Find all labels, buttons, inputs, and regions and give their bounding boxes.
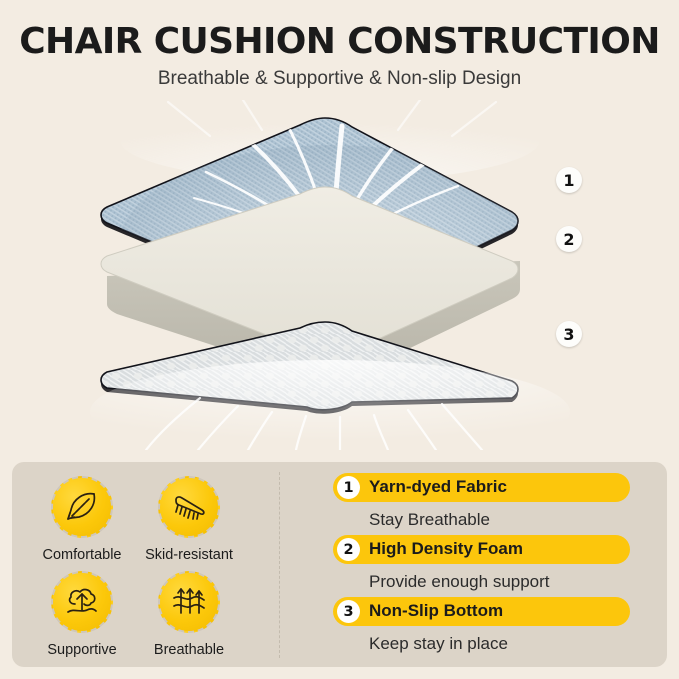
feature-row-1[interactable]: 1 Yarn-dyed Fabric: [333, 473, 653, 503]
infographic-canvas: CHAIR CUSHION CONSTRUCTION Breathable & …: [0, 0, 679, 679]
benefit-grid: Comfortable Skid-resistant Supportiv: [22, 472, 272, 658]
benefit-label: Breathable: [129, 642, 249, 658]
woven-threads-icon: [158, 571, 220, 633]
benefit-breathable[interactable]: Breathable: [129, 571, 249, 658]
feature-badge: 1: [337, 476, 360, 499]
page-title: CHAIR CUSHION CONSTRUCTION: [0, 23, 679, 61]
feature-badge: 2: [337, 538, 360, 561]
benefit-comfortable[interactable]: Comfortable: [22, 476, 142, 563]
feature-row-3[interactable]: 3 Non-Slip Bottom: [333, 597, 653, 627]
feature-desc-1: Stay Breathable: [333, 504, 653, 535]
benefit-label: Comfortable: [22, 547, 142, 563]
feather-icon: [51, 476, 113, 538]
feature-list: 1 Yarn-dyed Fabric Stay Breathable 2 Hig…: [333, 473, 653, 659]
feature-row-2[interactable]: 2 High Density Foam: [333, 535, 653, 565]
page-subtitle: Breathable & Supportive & Non-slip Desig…: [0, 68, 679, 90]
feature-title: Non-Slip Bottom: [369, 601, 503, 621]
feature-desc-2: Provide enough support: [333, 566, 653, 597]
layer-badge-3: 3: [556, 321, 582, 347]
benefit-skid-resistant[interactable]: Skid-resistant: [129, 476, 249, 563]
feature-title: Yarn-dyed Fabric: [369, 477, 507, 497]
skid-grip-icon: [158, 476, 220, 538]
feature-badge: 3: [337, 600, 360, 623]
layer-badge-2: 2: [556, 226, 582, 252]
benefit-label: Supportive: [22, 642, 142, 658]
panel-divider: [279, 472, 280, 658]
feature-desc-3: Keep stay in place: [333, 628, 653, 659]
exploded-cushion-illustration: 1 2 3: [0, 100, 679, 450]
header: CHAIR CUSHION CONSTRUCTION Breathable & …: [0, 0, 679, 90]
layer-badge-1: 1: [556, 167, 582, 193]
feature-title: High Density Foam: [369, 539, 523, 559]
benefit-supportive[interactable]: Supportive: [22, 571, 142, 658]
cushion-arrow-icon: [51, 571, 113, 633]
benefit-label: Skid-resistant: [129, 547, 249, 563]
